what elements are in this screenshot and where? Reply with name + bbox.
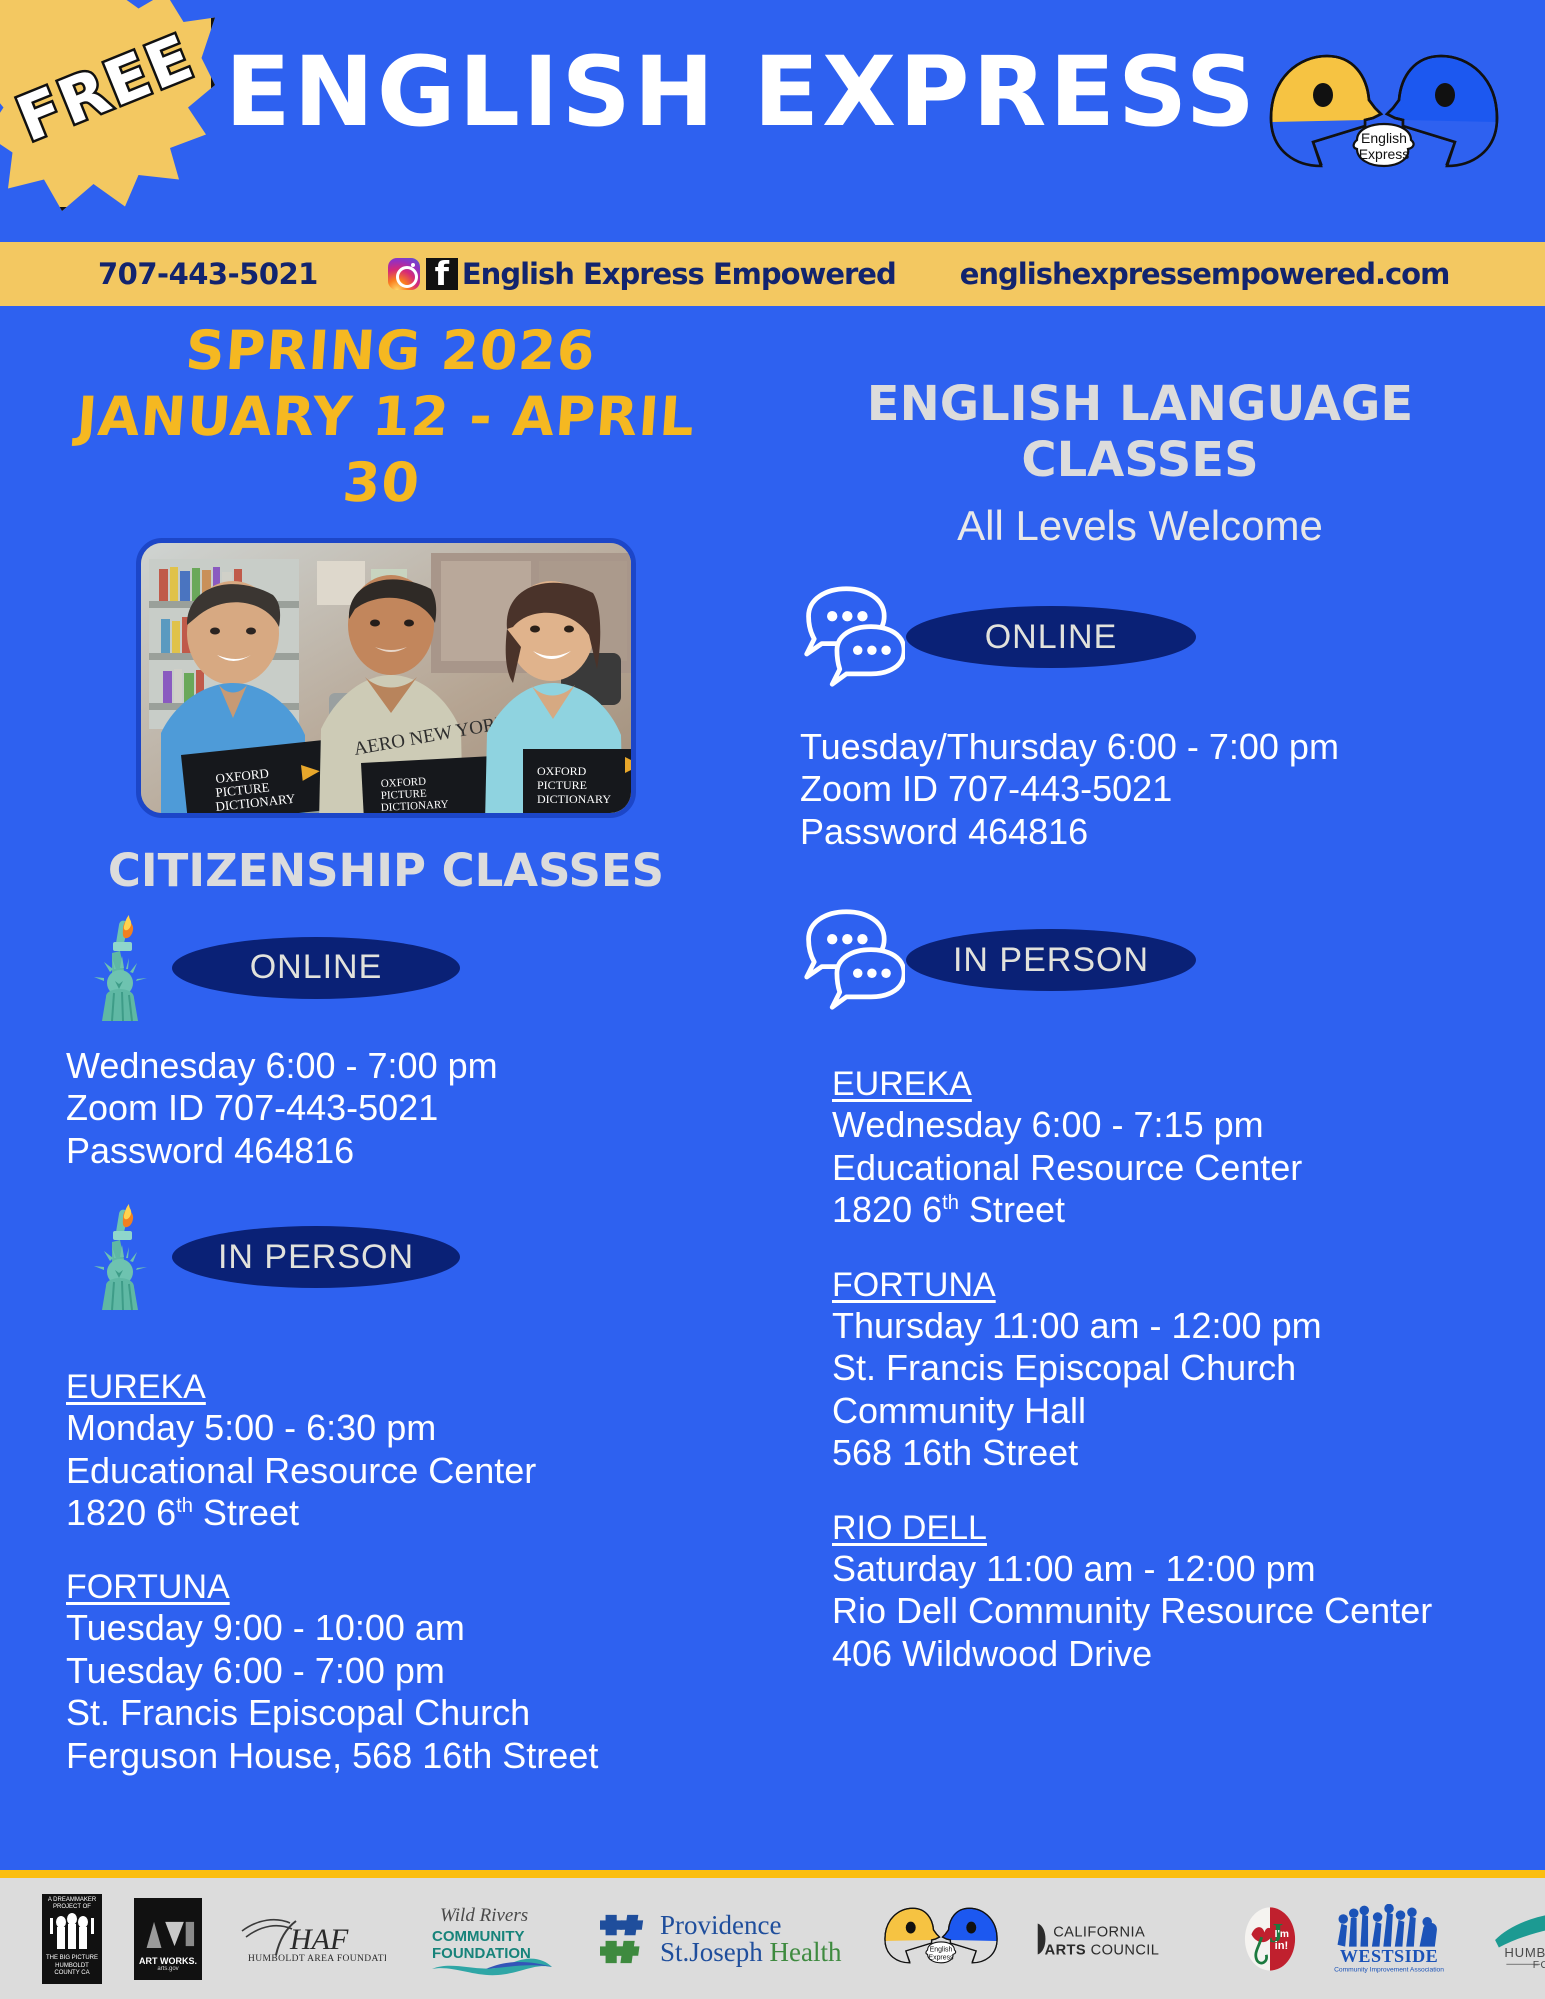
sponsor-label: HUMBOLDT AREA FOUNDATION — [248, 1954, 386, 1963]
sponsor-line: in! — [1274, 1940, 1288, 1952]
sponsor-line: FOUNDATION — [1532, 1960, 1545, 1970]
location-line: Community Hall — [832, 1390, 1480, 1432]
website-link[interactable]: englishexpressempowered.com — [960, 257, 1450, 291]
english-express-logo: English Express — [1253, 48, 1515, 188]
location-name: EUREKA — [832, 1065, 972, 1104]
english-inperson-row: IN PERSON — [800, 907, 1480, 1013]
english-inperson-pill[interactable]: IN PERSON — [906, 929, 1196, 991]
sponsor-logo-english-express: English Express — [876, 1904, 1006, 1974]
season-line-1: SPRING 2026 — [68, 318, 713, 384]
citizenship-inperson-pill[interactable]: IN PERSON — [172, 1226, 460, 1288]
logo-bubble-line1: English — [1361, 130, 1407, 146]
citizenship-section-title: CITIZENSHIP CLASSES — [66, 844, 706, 897]
sponsor-line: I'm — [1274, 1929, 1288, 1940]
sponsor-sublabel: Community Improvement Association — [1334, 1966, 1444, 1973]
svg-text:OXFORD: OXFORD — [537, 764, 587, 778]
sponsor-sublabel: arts.gov — [157, 1966, 178, 1972]
sponsor-label: ART WORKS. — [139, 1956, 197, 1966]
sponsor-footer: A DREAMMAKER PROJECT OF THE BIG PICTURE … — [0, 1878, 1545, 1999]
speech-bubbles-icon — [800, 584, 906, 690]
location-line: 406 Wildwood Drive — [832, 1633, 1480, 1675]
logo-bubble-line2: Express — [1359, 146, 1410, 162]
location-address: 1820 6th Street — [66, 1492, 706, 1534]
svg-text:ARTS COUNCIL: ARTS COUNCIL — [1044, 1942, 1159, 1958]
location-line: St. Francis Episcopal Church — [832, 1347, 1480, 1389]
season-heading: SPRING 2026 JANUARY 12 - APRIL 30 — [59, 318, 713, 516]
sponsor-line: PROJECT OF — [44, 1904, 100, 1912]
location-name: FORTUNA — [832, 1266, 996, 1305]
citizenship-inperson-row: IN PERSON — [66, 1202, 706, 1312]
season-line-2: JANUARY 12 - APRIL 30 — [59, 384, 708, 516]
location-name: FORTUNA — [66, 1568, 230, 1607]
sponsor-logo-westside-community-improvement: WESTSIDE Community Improvement Associati… — [1328, 1904, 1452, 1974]
citizenship-online-row: ONLINE — [66, 913, 706, 1023]
svg-text:PICTURE: PICTURE — [537, 778, 587, 792]
detail-line: Password 464816 — [66, 1130, 706, 1172]
sponsor-logo-humboldt-area-foundation: HAF HUMBOLDT AREA FOUNDATION — [236, 1909, 386, 1968]
svg-text:HAF: HAF — [289, 1923, 349, 1956]
sponsor-line: HUMBOLDT COUNTY CA — [44, 1963, 100, 1978]
location-block: FORTUNA Tuesday 9:00 - 10:00 am Tuesday … — [66, 1568, 706, 1777]
detail-line: Password 464816 — [800, 811, 1480, 853]
sponsor-bubble-line2: Express — [928, 1954, 954, 1961]
sponsor-line: St.Joseph — [660, 1937, 763, 1967]
location-line: Saturday 11:00 am - 12:00 pm — [832, 1548, 1480, 1590]
left-column: SPRING 2026 JANUARY 12 - APRIL 30 — [66, 318, 706, 1777]
statue-of-liberty-icon — [66, 1202, 172, 1312]
location-line: Rio Dell Community Resource Center — [832, 1590, 1480, 1632]
instagram-icon[interactable] — [388, 258, 420, 290]
sponsor-logo-art-works: ART WORKS. arts.gov — [134, 1898, 202, 1980]
sponsor-script: Wild Rivers — [440, 1905, 528, 1926]
statue-of-liberty-icon — [66, 913, 172, 1023]
sponsor-logo-dreammaker-project: A DREAMMAKER PROJECT OF THE BIG PICTURE … — [42, 1894, 102, 1984]
students-photo: OXFORD PICTURE DICTIONARY AERO NEW YORK … — [136, 538, 636, 818]
location-block: EUREKA Monday 5:00 - 6:30 pm Educational… — [66, 1368, 706, 1534]
right-column: ENGLISH LANGUAGE CLASSES All Levels Welc… — [800, 350, 1480, 1675]
english-online-row: ONLINE — [800, 584, 1480, 690]
location-line: Educational Resource Center — [832, 1147, 1480, 1189]
location-line: 568 16th Street — [832, 1432, 1480, 1474]
location-block: EUREKA Wednesday 6:00 - 7:15 pm Educatio… — [832, 1065, 1480, 1231]
english-online-details: Tuesday/Thursday 6:00 - 7:00 pm Zoom ID … — [800, 726, 1480, 853]
speech-bubbles-icon — [800, 907, 906, 1013]
detail-line: Zoom ID 707-443-5021 — [800, 768, 1480, 810]
sponsor-logo-im-in: J I'm in! — [1244, 1906, 1296, 1972]
detail-line: Tuesday/Thursday 6:00 - 7:00 pm — [800, 726, 1480, 768]
location-address: 1820 6th Street — [832, 1189, 1480, 1231]
location-line: Ferguson House, 568 16th Street — [66, 1735, 706, 1777]
sponsor-line: Health — [770, 1937, 842, 1967]
sponsor-logo-california-arts-council: CALIFORNIA ARTS COUNCIL — [1036, 1918, 1208, 1960]
sponsor-label: WESTSIDE — [1339, 1945, 1437, 1965]
page-title: ENGLISH EXPRESS — [225, 44, 1235, 140]
sponsor-line: Providence — [660, 1912, 842, 1939]
sponsor-logo-providence-st-joseph-health: Providence St.Joseph Health — [600, 1910, 842, 1968]
sponsor-logo-wild-rivers-community-foundation: Wild Rivers COMMUNITY FOUNDATION — [426, 1901, 558, 1977]
english-section-subtitle: All Levels Welcome — [800, 502, 1480, 550]
facebook-icon[interactable] — [426, 258, 458, 290]
sponsor-logo-humboldt-health-foundation: HUMBOLDT HEALTH FOUNDATION — [1488, 1908, 1545, 1970]
english-section-title: ENGLISH LANGUAGE CLASSES — [800, 376, 1480, 488]
location-name: RIO DELL — [832, 1509, 987, 1548]
footer-divider — [0, 1870, 1545, 1878]
location-name: EUREKA — [66, 1368, 206, 1407]
location-line: Educational Resource Center — [66, 1450, 706, 1492]
location-block: FORTUNA Thursday 11:00 am - 12:00 pm St.… — [832, 1266, 1480, 1475]
location-line: Thursday 11:00 am - 12:00 pm — [832, 1305, 1480, 1347]
location-line: Tuesday 6:00 - 7:00 pm — [66, 1650, 706, 1692]
detail-line: Wednesday 6:00 - 7:00 pm — [66, 1045, 706, 1087]
sponsor-bubble-line1: English — [929, 1946, 952, 1953]
contact-bar: 707-443-5021 English Express Empowered e… — [0, 242, 1545, 306]
english-online-pill[interactable]: ONLINE — [906, 606, 1196, 668]
phone-number[interactable]: 707-443-5021 — [98, 257, 318, 291]
sponsor-line: COMMUNITY — [432, 1928, 525, 1945]
sponsor-line: HUMBOLDT HEALTH — [1504, 1944, 1545, 1959]
location-line: Monday 5:00 - 6:30 pm — [66, 1407, 706, 1449]
social-handle: English Express Empowered — [462, 257, 896, 291]
detail-line: Zoom ID 707-443-5021 — [66, 1087, 706, 1129]
sponsor-line: THE BIG PICTURE — [44, 1955, 100, 1963]
citizenship-online-details: Wednesday 6:00 - 7:00 pm Zoom ID 707-443… — [66, 1045, 706, 1172]
sponsor-line: CALIFORNIA — [1053, 1924, 1145, 1940]
sponsor-line: A DREAMMAKER — [44, 1897, 100, 1905]
citizenship-online-pill[interactable]: ONLINE — [172, 937, 460, 999]
sponsor-line: FOUNDATION — [432, 1945, 531, 1962]
svg-text:DICTIONARY: DICTIONARY — [537, 792, 611, 806]
location-line: Wednesday 6:00 - 7:15 pm — [832, 1104, 1480, 1146]
flyer-header: FREE ENGLISH EXPRESS English Express — [0, 0, 1545, 242]
location-line: St. Francis Episcopal Church — [66, 1692, 706, 1734]
location-line: Tuesday 9:00 - 10:00 am — [66, 1607, 706, 1649]
location-block: RIO DELL Saturday 11:00 am - 12:00 pm Ri… — [832, 1509, 1480, 1675]
